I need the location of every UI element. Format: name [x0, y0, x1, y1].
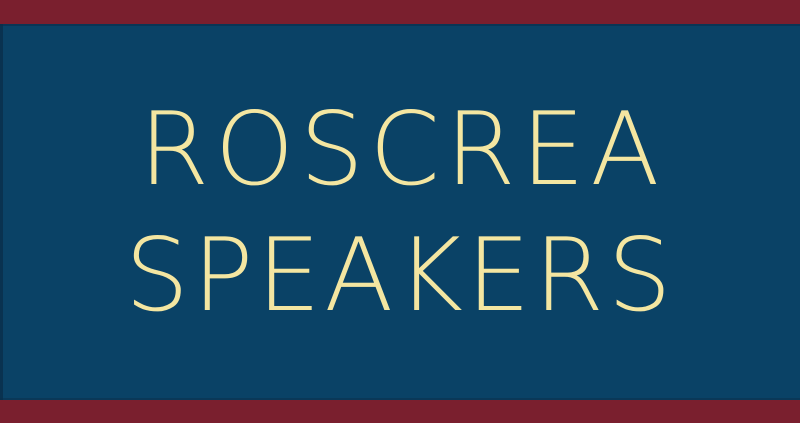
navy-panel: ROSCREA SPEAKERS: [0, 24, 800, 400]
roscrea-speakers-banner: ROSCREA SPEAKERS: [0, 0, 800, 423]
panel-top-edge: [0, 24, 800, 26]
banner-title-line-1: ROSCREA: [0, 86, 800, 212]
bottom-maroon-band: [0, 400, 800, 423]
banner-title-block: ROSCREA SPEAKERS: [0, 86, 800, 339]
banner-title-line-2: SPEAKERS: [0, 212, 800, 338]
top-maroon-band: [0, 0, 800, 24]
